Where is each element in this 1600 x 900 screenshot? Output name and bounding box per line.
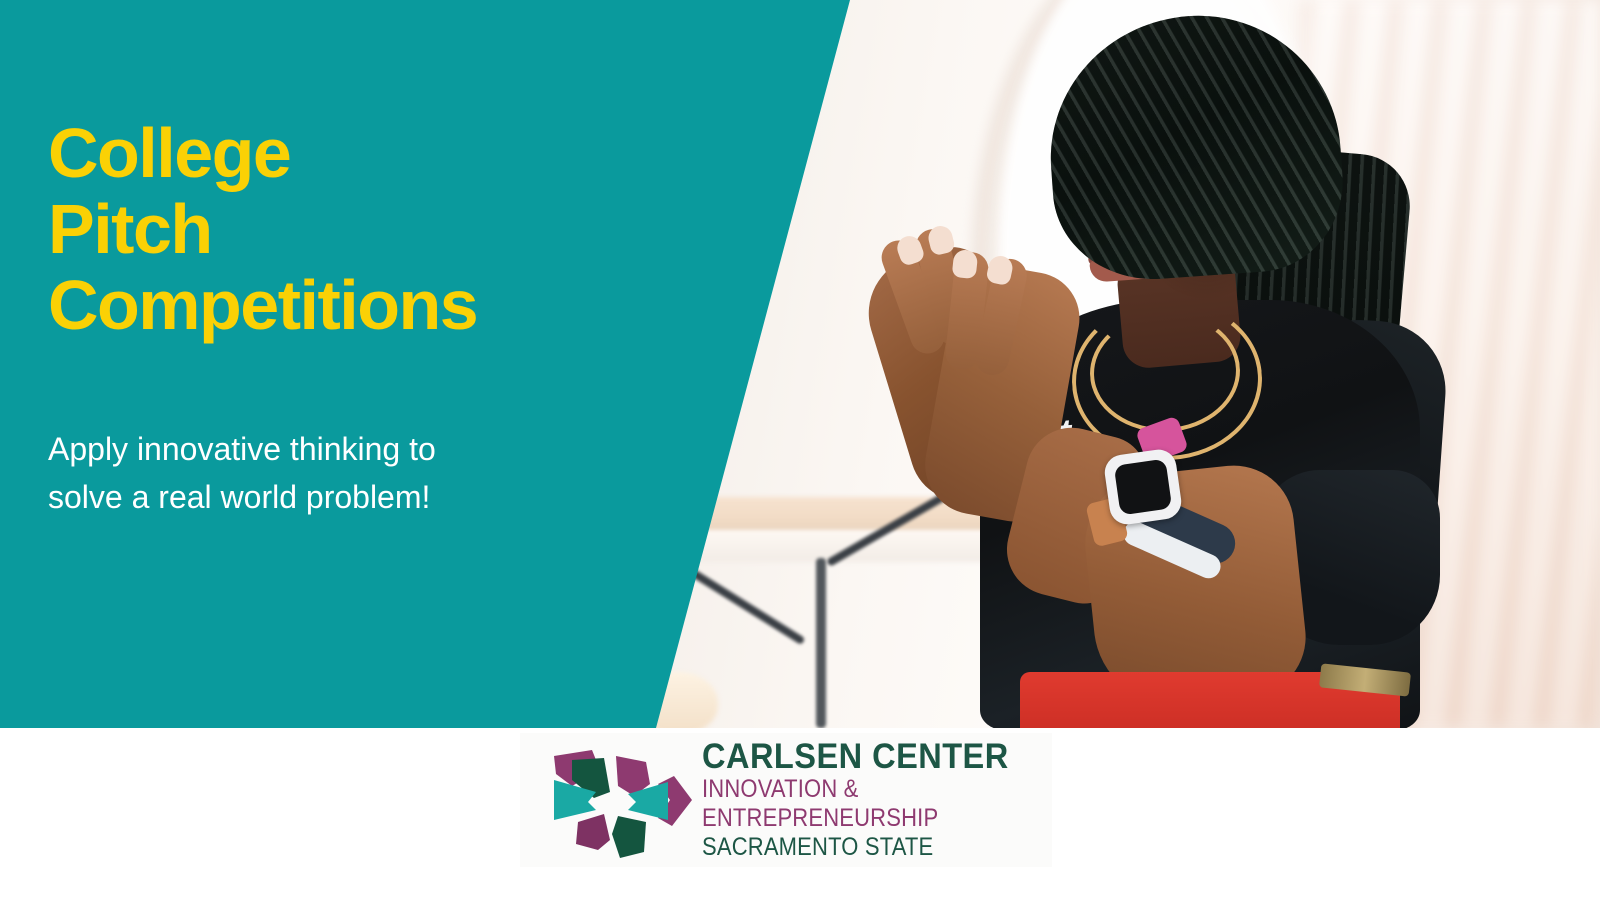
- page-subtitle: Apply innovative thinking to solve a rea…: [48, 425, 436, 521]
- logo-line-2: INNOVATION & ENTREPRENEURSHIP: [702, 775, 1010, 833]
- logo-line-1: CARLSEN CENTER: [702, 739, 1028, 775]
- promotional-banner: what NETWORKING College: [0, 0, 1600, 900]
- smartwatch-screen: [1114, 459, 1172, 516]
- carlsen-center-logo: CARLSEN CENTER INNOVATION & ENTREPRENEUR…: [520, 733, 1052, 867]
- logo-line-3: SACRAMENTO STATE: [702, 833, 1010, 862]
- pinwheel-logo-icon: [528, 740, 696, 860]
- hair-cornrows-texture: [1041, 6, 1348, 286]
- page-title: College Pitch Competitions: [48, 115, 477, 343]
- fingernail-3: [952, 249, 979, 279]
- logo-wordmark: CARLSEN CENTER INNOVATION & ENTREPRENEUR…: [702, 739, 1052, 862]
